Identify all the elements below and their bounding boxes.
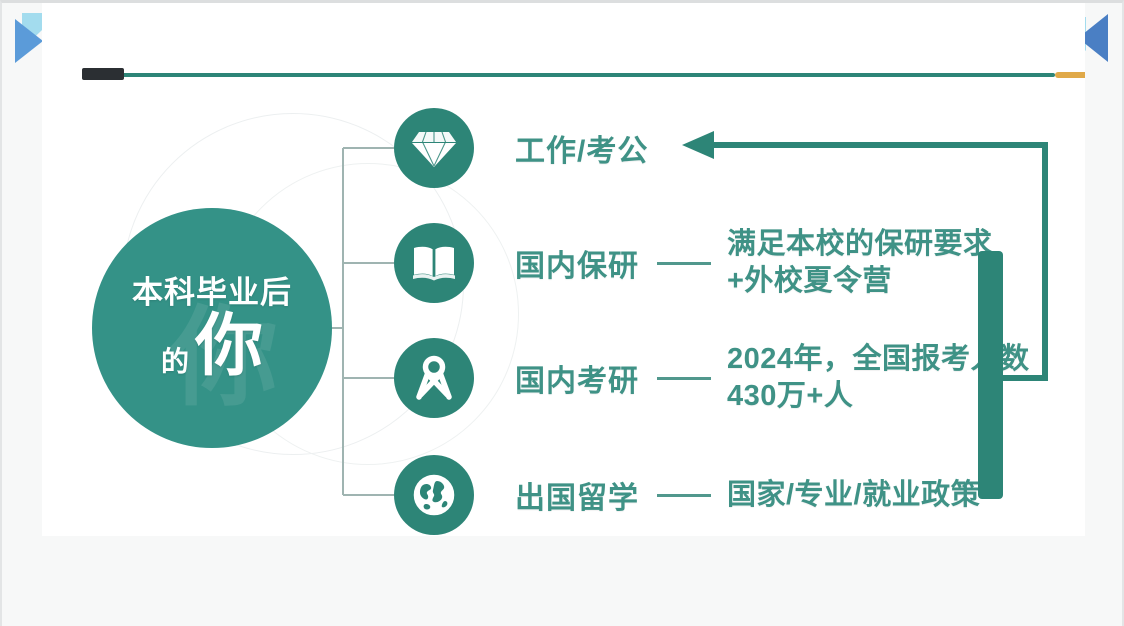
branch-label: 工作/考公 <box>515 126 648 170</box>
top-left-blue-triangle-icon <box>15 19 43 63</box>
branch-dash <box>657 494 711 497</box>
hub-prefix: 的 <box>161 348 189 380</box>
slide-canvas: 你 本科毕业后 的 你 <box>42 3 1085 536</box>
branch-dash <box>657 377 711 380</box>
branch-row-work[interactable]: 工作/考公 <box>394 108 648 188</box>
diamond-icon <box>394 108 474 188</box>
header-rule-dark-cap <box>82 68 124 80</box>
branch-row-study-abroad[interactable]: 出国留学 国家/专业/就业政策 <box>394 455 980 535</box>
branch-detail: 满足本校的保研要求 +外校夏令营 <box>727 226 993 300</box>
branch-row-postgrad-exam[interactable]: 国内考研 2024年，全国报考人数 430万+人 <box>394 338 1030 418</box>
branch-label: 国内考研 <box>515 356 639 400</box>
hub-title-line-1: 本科毕业后 <box>132 277 292 308</box>
hub-circle: 你 本科毕业后 的 你 <box>92 208 332 448</box>
branch-detail: 国家/专业/就业政策 <box>727 481 980 510</box>
branch-label: 出国留学 <box>515 473 639 517</box>
accent-bar <box>978 251 1003 499</box>
header-rule-gold-segment <box>1055 72 1085 78</box>
globe-icon <box>394 455 474 535</box>
hub-title-line-2: 的 你 <box>161 312 263 380</box>
branch-row-domestic-recommend[interactable]: 国内保研 满足本校的保研要求 +外校夏令营 <box>394 223 993 303</box>
hub-emphasis: 你 <box>195 312 263 380</box>
header-rule <box>82 72 1085 78</box>
ribbon-icon <box>394 338 474 418</box>
slide-viewer: 你 本科毕业后 的 你 <box>0 0 1124 626</box>
header-rule-teal-segment <box>82 73 1055 77</box>
branch-dash <box>657 262 711 265</box>
open-book-icon <box>394 223 474 303</box>
branch-label: 国内保研 <box>515 241 639 285</box>
